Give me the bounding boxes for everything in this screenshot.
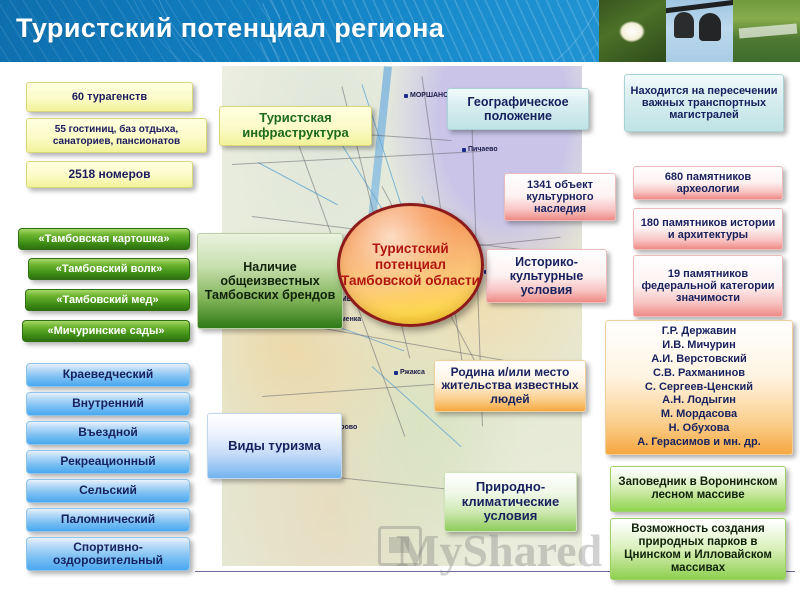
page-header: Туристский потенциал региона bbox=[0, 0, 800, 62]
tourism-types-title: Виды туризма bbox=[207, 413, 342, 479]
historical-conditions-title: Историко-культурные условия bbox=[486, 249, 607, 303]
stat-rooms: 2518 номеров bbox=[26, 161, 193, 188]
bridge-photo bbox=[733, 0, 800, 62]
map-city-label: Пичаево bbox=[468, 146, 498, 153]
name-item: Г.Р. Державин bbox=[662, 325, 737, 339]
name-item: А.И. Верстовский bbox=[651, 353, 747, 367]
monument-federal-category: 19 памятников федеральной категории знач… bbox=[633, 255, 783, 317]
brand-gardens[interactable]: «Мичуринские сады» bbox=[22, 320, 190, 342]
nature-reserve-voroninsky: Заповедник в Воронинском лесном массиве bbox=[610, 466, 786, 512]
header-photo-strip bbox=[599, 0, 800, 62]
tourism-type-rekreacionnyy[interactable]: Рекреационный bbox=[26, 450, 190, 474]
nature-parks-possibility: Возможность создания природных парков в … bbox=[610, 518, 786, 580]
center-node-label: Туристский потенциал Тамбовской области bbox=[340, 241, 481, 289]
stat-hotels: 55 гостиниц, баз отдыха, санаториев, пан… bbox=[26, 118, 207, 153]
tourism-type-vezdnoy[interactable]: Въездной bbox=[26, 421, 190, 445]
name-item: А.Н. Лодыгин bbox=[662, 394, 736, 408]
bells-photo bbox=[666, 0, 733, 62]
stat-travel-agencies: 60 турагенств bbox=[26, 82, 193, 112]
tourism-type-palomnicheskiy[interactable]: Паломнический bbox=[26, 508, 190, 532]
infrastructure-title: Туристская инфраструктура bbox=[219, 106, 372, 146]
monument-history-architecture: 180 памятников истории и архитектуры bbox=[633, 208, 783, 250]
brand-wolf[interactable]: «Тамбовский волк» bbox=[28, 258, 190, 280]
geography-transport-note: Находится на пересечении важных транспор… bbox=[624, 74, 784, 132]
name-item: С. Сергеев-Ценский bbox=[645, 381, 753, 395]
center-node-tourism-potential[interactable]: Туристский потенциал Тамбовской области bbox=[337, 203, 484, 327]
name-item: Н. Обухова bbox=[669, 422, 730, 436]
brand-potato[interactable]: «Тамбовская картошка» bbox=[18, 228, 190, 250]
name-item: И.В. Мичурин bbox=[662, 339, 735, 353]
lotus-photo bbox=[599, 0, 666, 62]
cultural-heritage-objects: 1341 объект культурного наследия bbox=[504, 173, 616, 221]
brand-honey[interactable]: «Тамбовский мед» bbox=[25, 289, 190, 311]
tourism-type-selskiy[interactable]: Сельский bbox=[26, 479, 190, 503]
nature-climate-title: Природно-климатические условия bbox=[444, 472, 577, 532]
brands-title: Наличие общеизвестных Тамбовских брендов bbox=[197, 233, 343, 329]
famous-people-list: Г.Р. Державин И.В. Мичурин А.И. Верстовс… bbox=[605, 320, 793, 455]
tourism-type-kraevedcheskiy[interactable]: Краеведческий bbox=[26, 363, 190, 387]
page-title: Туристский потенциал региона bbox=[16, 13, 444, 44]
name-item: С.В. Рахманинов bbox=[653, 367, 745, 381]
geography-title: Географическое положение bbox=[447, 88, 589, 130]
famous-people-title: Родина и/или место жительства известных … bbox=[434, 360, 586, 412]
name-item: М. Мордасова bbox=[661, 408, 737, 422]
monument-archaeology: 680 памятников археологии bbox=[633, 166, 783, 200]
tourism-type-sportivno-ozdorovitelnyy[interactable]: Спортивно-оздоровительный bbox=[26, 537, 190, 571]
map-city-label: Ржакса bbox=[400, 369, 425, 376]
tourism-type-vnutrenniy[interactable]: Внутренний bbox=[26, 392, 190, 416]
name-item: А. Герасимов и мн. др. bbox=[637, 436, 761, 450]
